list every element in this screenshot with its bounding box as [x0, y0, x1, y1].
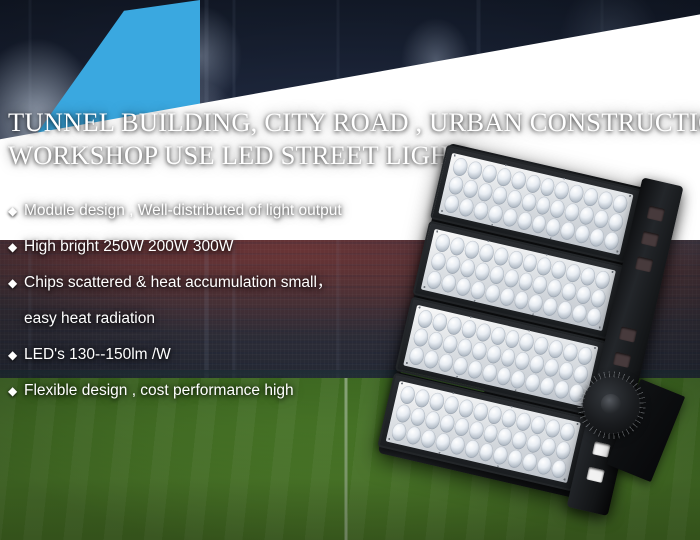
feature-label: LED's 130--150lm /W	[24, 344, 428, 366]
feature-item-2: ◆ High bright 250W 200W 300W	[8, 236, 428, 272]
bracket-slot	[619, 326, 638, 342]
bracket-slot	[592, 441, 611, 457]
bracket-slot	[586, 467, 605, 483]
feature-label: High bright 250W 200W 300W	[24, 236, 428, 258]
diamond-bullet-icon: ◆	[8, 380, 24, 402]
feature-item-1: ◆ Module design , Well-distributed of li…	[8, 200, 428, 236]
feature-item-5: ◆ Flexible design , cost performance hig…	[8, 380, 428, 416]
feature-item-3-continued: ◆ easy heat radiation	[8, 308, 428, 344]
feature-list: ◆ Module design , Well-distributed of li…	[8, 200, 428, 416]
product-banner: TUNNEL BUILDING, CITY ROAD , URBAN CONST…	[0, 0, 700, 540]
bracket-slot	[647, 206, 666, 222]
feature-label: easy heat radiation	[24, 308, 428, 330]
bracket-slot	[613, 352, 632, 368]
diamond-bullet-icon: ◆	[8, 344, 24, 366]
bracket-slot	[635, 256, 654, 272]
diamond-bullet-icon: ◆	[8, 272, 24, 294]
page-title: TUNNEL BUILDING, CITY ROAD , URBAN CONST…	[8, 106, 698, 172]
product-image	[392, 165, 692, 520]
bracket-slot	[641, 231, 660, 247]
led-flood-light	[359, 133, 694, 515]
diamond-bullet-icon: ◆	[8, 236, 24, 258]
feature-label: Module design , Well-distributed of ligh…	[24, 200, 428, 222]
feature-item-3: ◆ Chips scattered & heat accumulation sm…	[8, 272, 428, 308]
diamond-bullet-icon: ◆	[8, 200, 24, 222]
feature-label: Chips scattered & heat accumulation smal…	[24, 272, 428, 294]
headline-line-1: TUNNEL BUILDING, CITY ROAD , URBAN CONST…	[8, 106, 698, 139]
feature-label: Flexible design , cost performance high	[24, 380, 428, 402]
feature-item-4: ◆ LED's 130--150lm /W	[8, 344, 428, 380]
